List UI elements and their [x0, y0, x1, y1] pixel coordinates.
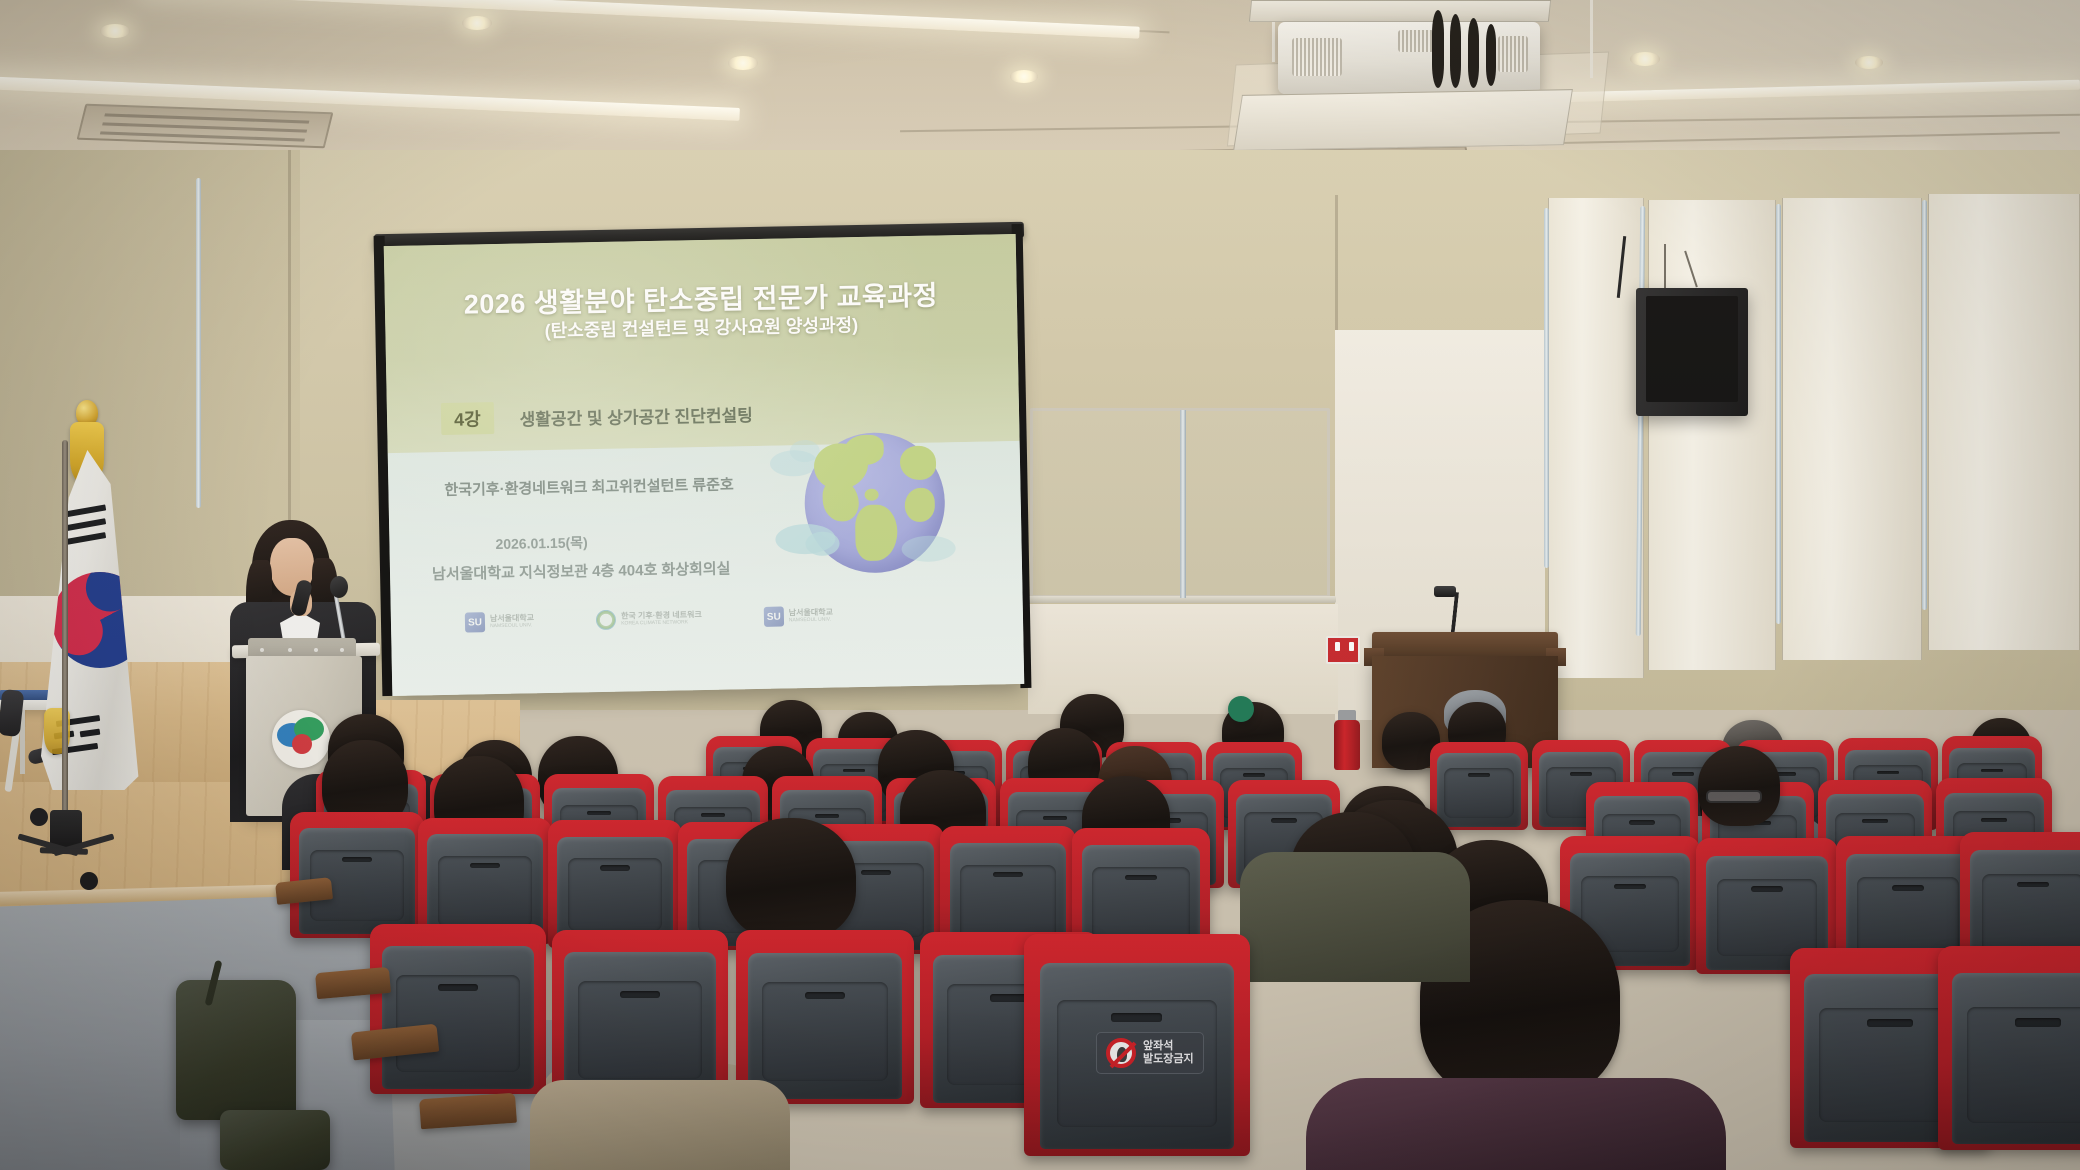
flag-trigram-bar: [80, 729, 101, 738]
namseoul-logo-mark: SU: [764, 606, 784, 626]
warning-line-2: 발도장금지: [1143, 1053, 1194, 1066]
island-shape: [864, 489, 878, 501]
government-emblem: [272, 710, 330, 768]
projector-cable: [1432, 10, 1444, 88]
lesson-row: 4강 생활공간 및 상가공간 진단컨설팅: [441, 397, 753, 435]
slide-date: 2026.01.15(목): [495, 532, 588, 554]
projector-cable: [1468, 18, 1479, 88]
downlight: [462, 16, 492, 30]
projector-bracket: [1249, 0, 1551, 22]
podium-indicator: [340, 648, 344, 652]
whiteboard-divider: [1180, 410, 1186, 598]
flag-trigram-bar: [62, 518, 106, 532]
continent-shape: [855, 504, 898, 561]
seat: [1430, 742, 1528, 830]
earth-globe-illustration: [767, 425, 970, 609]
fire-extinguisher: [1334, 720, 1360, 770]
podium-indicator: [260, 648, 264, 652]
continent-shape: [843, 435, 884, 466]
projector-shroud: [1233, 89, 1573, 151]
chair-caster: [30, 808, 48, 826]
eyeglasses-icon: [1706, 790, 1762, 803]
speaker-hang-wire: [1664, 244, 1666, 288]
warning-line-1: 앞좌석: [1143, 1040, 1194, 1053]
logo-namseoul-university: SU 남서울대학교 NAMSEOUL UNIV.: [465, 611, 535, 632]
projector-cable: [1486, 24, 1496, 86]
blind-pull-rod: [1544, 208, 1549, 568]
podium-mic-head: [330, 576, 348, 598]
flag-trigram-bar: [64, 504, 106, 517]
lectern-mic-head: [1434, 586, 1456, 597]
audience-shoulders: [1240, 852, 1470, 982]
seat: [552, 930, 728, 1102]
audience-coat: [530, 1080, 790, 1170]
projector-vent: [1398, 30, 1434, 52]
projector-cable: [1450, 14, 1461, 88]
seat: [736, 930, 914, 1104]
podium-indicator: [314, 648, 318, 652]
window-blind: [1782, 198, 1922, 660]
window-blind: [1928, 194, 2080, 650]
seat: [370, 924, 546, 1094]
continent-shape: [900, 446, 937, 481]
projector-mount-rod: [1590, 0, 1593, 78]
downlight: [1855, 56, 1883, 69]
seat-warning-label: 앞좌석 발도장금지: [1096, 1032, 1204, 1074]
no-footprint-icon: [1106, 1038, 1136, 1068]
audience-head: [726, 818, 856, 940]
window-blind: [1648, 200, 1776, 670]
climate-network-logo-mark: [596, 610, 616, 630]
logo-label: 남서울대학교 NAMSEOUL UNIV.: [789, 609, 833, 623]
logo-sub: NAMSEOUL UNIV.: [490, 623, 534, 629]
logo-label: 남서울대학교 NAMSEOUL UNIV.: [490, 614, 534, 628]
projection-screen: 2026 생활분야 탄소중립 전문가 교육과정 (탄소중립 컨설턴트 및 강사요…: [384, 234, 1025, 696]
window-blind: [1548, 198, 1644, 678]
lesson-number-badge: 4강: [441, 402, 494, 435]
seat-with-warning-sign: 앞좌석 발도장금지: [1024, 934, 1250, 1156]
audience-shoulders-foreground: [1306, 1078, 1726, 1170]
blind-pull-rod: [1922, 200, 1927, 610]
seat: [1938, 946, 2080, 1150]
downlight: [100, 24, 130, 38]
lectern-top: [1372, 632, 1558, 658]
blind-pull-rod: [1776, 204, 1781, 624]
seat: [290, 812, 424, 938]
namseoul-logo-mark: SU: [465, 612, 485, 632]
continent-shape: [904, 488, 935, 523]
emblem-red-dot: [292, 734, 312, 754]
backpack-lower: [220, 1110, 330, 1170]
podium-indicator: [288, 648, 292, 652]
flag-pole: [62, 440, 68, 820]
lecture-hall-photo: 2026 생활분야 탄소중립 전문가 교육과정 (탄소중립 컨설턴트 및 강사요…: [0, 0, 2080, 1170]
downlight: [728, 56, 758, 70]
blind-pull-rod: [196, 178, 201, 508]
footprint-glyph: [1117, 1047, 1127, 1062]
logo-korea-climate-network: 한국 기후·환경 네트워크 KOREA CLIMATE NETWORK: [596, 608, 702, 630]
audience-hat: [1228, 696, 1254, 722]
logo-sub: KOREA CLIMATE NETWORK: [621, 620, 702, 627]
backpack: [176, 980, 296, 1120]
flag-stand-caster: [80, 872, 98, 890]
fire-alarm-sign: [1326, 636, 1360, 664]
projector-vent: [1498, 36, 1528, 72]
seat: [548, 820, 682, 948]
downlight: [1010, 70, 1038, 83]
audience-head-with-glasses: [1698, 746, 1780, 826]
logo-label: 한국 기후·환경 네트워크 KOREA CLIMATE NETWORK: [621, 611, 702, 626]
logo-sub: NAMSEOUL UNIV.: [789, 617, 833, 623]
cloud-icon: [901, 535, 955, 562]
downlight: [1630, 52, 1660, 66]
speaker-grille: [1646, 296, 1738, 402]
lesson-topic: 생활공간 및 상가공간 진단컨설팅: [519, 401, 753, 430]
warning-text: 앞좌석 발도장금지: [1143, 1040, 1194, 1066]
projector-vent: [1292, 38, 1342, 76]
logo-namseoul-university-2: SU 남서울대학교 NAMSEOUL UNIV.: [764, 606, 834, 627]
